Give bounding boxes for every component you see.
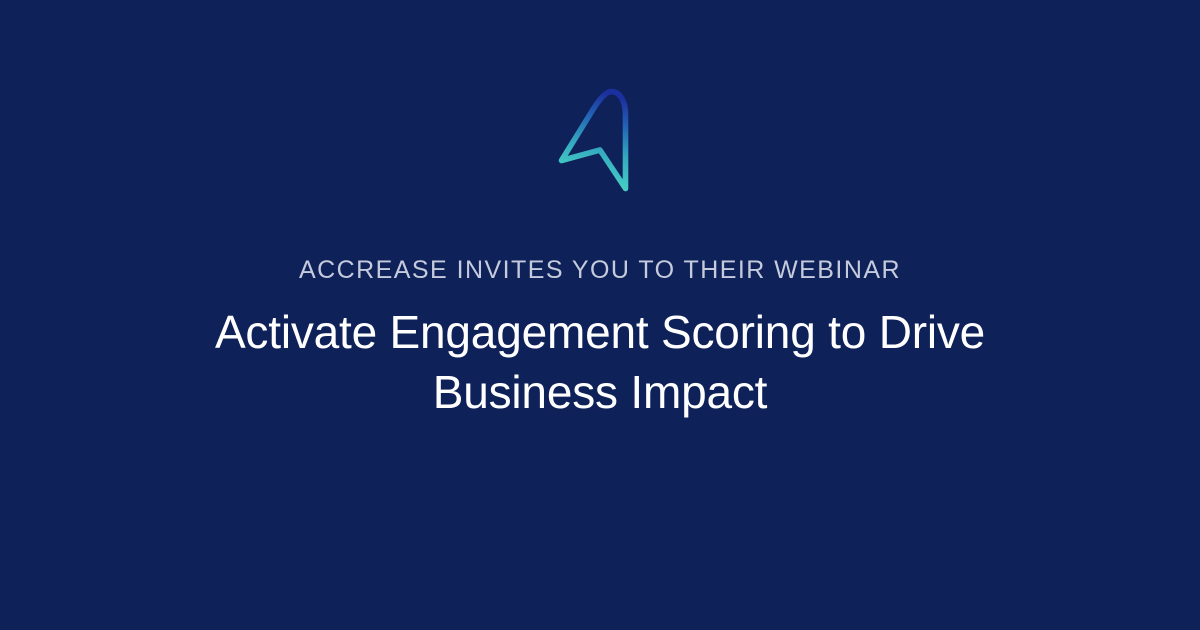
page-title: Activate Engagement Scoring to Drive Bus… (170, 302, 1030, 422)
webinar-share-card: ACCREASE INVITES YOU TO THEIR WEBINAR Ac… (0, 0, 1200, 630)
eyebrow-invite-line: ACCREASE INVITES YOU TO THEIR WEBINAR (150, 255, 1050, 285)
accrease-arrow-cursor-logo-icon (557, 84, 643, 194)
logo-container (0, 84, 1200, 194)
text-block: ACCREASE INVITES YOU TO THEIR WEBINAR Ac… (0, 255, 1200, 422)
